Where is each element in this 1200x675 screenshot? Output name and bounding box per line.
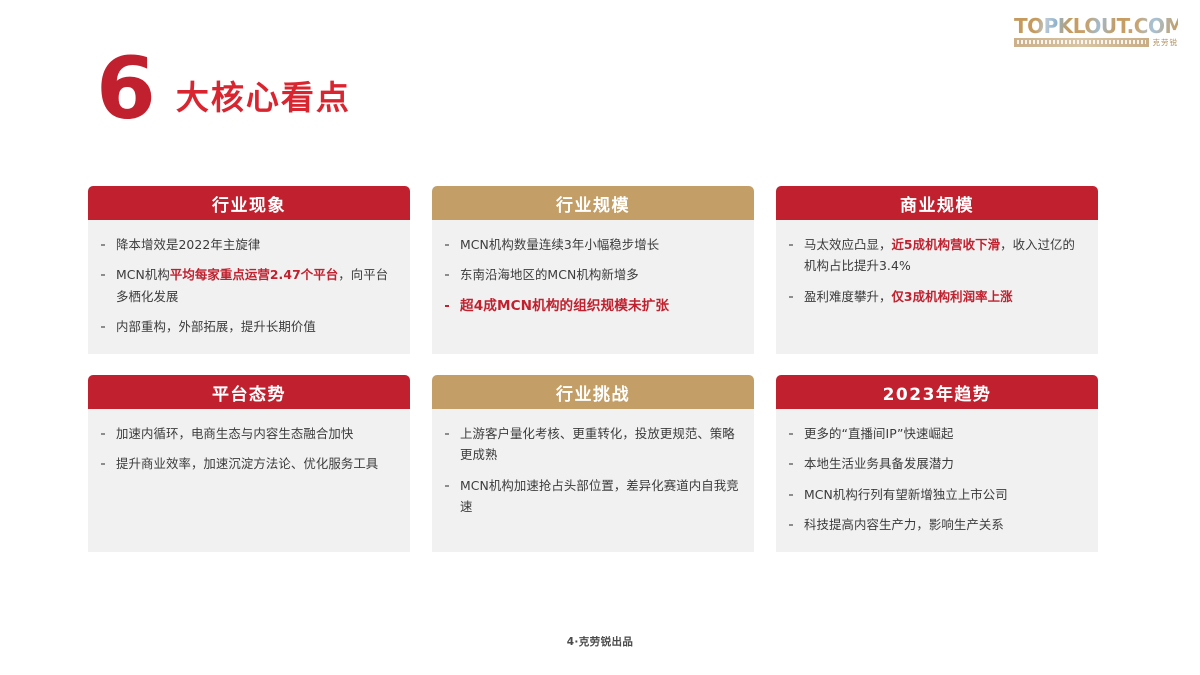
bullet-text: MCN机构行列有望新增独立上市公司 xyxy=(804,487,1008,502)
card-bullet-list: 降本增效是2022年主旋律MCN机构平均每家重点运营2.47个平台，向平台多栖化… xyxy=(99,234,396,337)
bullet-accent-text: 仅3成机构利润率上涨 xyxy=(891,289,1012,304)
logo-subtitle-row: 克劳锐 xyxy=(1014,38,1178,47)
card-bullet-item: 科技提高内容生产力，影响生产关系 xyxy=(787,514,1084,535)
card-bullet-list: MCN机构数量连续3年小幅稳步增长东南沿海地区的MCN机构新增多超4成MCN机构… xyxy=(443,234,740,318)
highlight-card: 2023年趋势更多的“直播间IP”快速崛起本地生活业务具备发展潜力MCN机构行列… xyxy=(776,375,1098,552)
card-bullet-item: MCN机构加速抢占头部位置，差异化赛道内自我竞速 xyxy=(443,475,740,518)
bullet-text: 内部重构，外部拓展，提升长期价值 xyxy=(116,319,316,334)
bullet-text: 提升商业效率，加速沉淀方法论、优化服务工具 xyxy=(116,456,378,471)
card-bullet-item: 降本增效是2022年主旋律 xyxy=(99,234,396,255)
card-bullet-item: 盈利难度攀升，仅3成机构利润率上涨 xyxy=(787,286,1084,307)
logo-brand-cn: 克劳锐 xyxy=(1153,39,1179,47)
card-bullet-list: 上游客户量化考核、更重转化，投放更规范、策略更成熟MCN机构加速抢占头部位置，差… xyxy=(443,423,740,517)
brand-logo: TOPKLOUT.COM 克劳锐 xyxy=(1014,16,1178,47)
bullet-text: MCN机构 xyxy=(116,267,170,282)
highlight-card: 平台态势加速内循环，电商生态与内容生态融合加快提升商业效率，加速沉淀方法论、优化… xyxy=(88,375,410,552)
card-header: 行业现象 xyxy=(88,186,410,220)
logo-wordmark: TOPKLOUT.COM xyxy=(1014,16,1178,36)
bullet-text: 加速内循环，电商生态与内容生态融合加快 xyxy=(116,426,353,441)
bullet-text: 东南沿海地区的MCN机构新增多 xyxy=(460,267,639,282)
highlight-card: 行业规模MCN机构数量连续3年小幅稳步增长东南沿海地区的MCN机构新增多超4成M… xyxy=(432,186,754,354)
card-bullet-item: 本地生活业务具备发展潜力 xyxy=(787,453,1084,474)
bullet-text: 更多的“直播间IP”快速崛起 xyxy=(804,426,954,441)
card-header: 商业规模 xyxy=(776,186,1098,220)
bullet-text: 科技提高内容生产力，影响生产关系 xyxy=(804,517,1004,532)
bullet-accent-text: 平均每家重点运营2.47个平台 xyxy=(170,267,338,282)
card-bullet-item: 上游客户量化考核、更重转化，投放更规范、策略更成熟 xyxy=(443,423,740,466)
bullet-text: 本地生活业务具备发展潜力 xyxy=(804,456,954,471)
card-header: 行业规模 xyxy=(432,186,754,220)
page-title-text: 大核心看点 xyxy=(176,71,351,128)
card-body: MCN机构数量连续3年小幅稳步增长东南沿海地区的MCN机构新增多超4成MCN机构… xyxy=(432,220,754,354)
card-body: 加速内循环，电商生态与内容生态融合加快提升商业效率，加速沉淀方法论、优化服务工具 xyxy=(88,409,410,552)
card-body: 马太效应凸显，近5成机构营收下滑，收入过亿的机构占比提升3.4%盈利难度攀升，仅… xyxy=(776,220,1098,354)
card-bullet-list: 更多的“直播间IP”快速崛起本地生活业务具备发展潜力MCN机构行列有望新增独立上… xyxy=(787,423,1084,535)
card-bullet-item: MCN机构平均每家重点运营2.47个平台，向平台多栖化发展 xyxy=(99,264,396,307)
card-bullet-item: 提升商业效率，加速沉淀方法论、优化服务工具 xyxy=(99,453,396,474)
card-bullet-item: 更多的“直播间IP”快速崛起 xyxy=(787,423,1084,444)
slide-footer: 4·克劳锐出品 xyxy=(0,634,1200,649)
card-bullet-list: 加速内循环，电商生态与内容生态融合加快提升商业效率，加速沉淀方法论、优化服务工具 xyxy=(99,423,396,475)
card-bullet-item: 马太效应凸显，近5成机构营收下滑，收入过亿的机构占比提升3.4% xyxy=(787,234,1084,277)
logo-decorative-bar xyxy=(1014,38,1149,47)
bullet-text: 盈利难度攀升， xyxy=(804,289,891,304)
card-body: 上游客户量化考核、更重转化，投放更规范、策略更成熟MCN机构加速抢占头部位置，差… xyxy=(432,409,754,552)
highlight-card: 行业现象降本增效是2022年主旋律MCN机构平均每家重点运营2.47个平台，向平… xyxy=(88,186,410,354)
bullet-text: 马太效应凸显， xyxy=(804,237,891,252)
card-body: 更多的“直播间IP”快速崛起本地生活业务具备发展潜力MCN机构行列有望新增独立上… xyxy=(776,409,1098,552)
highlights-grid: 行业现象降本增效是2022年主旋律MCN机构平均每家重点运营2.47个平台，向平… xyxy=(88,186,1098,552)
slide-canvas: TOPKLOUT.COM 克劳锐 6 大核心看点 行业现象降本增效是2022年主… xyxy=(0,0,1200,675)
card-bullet-item: MCN机构数量连续3年小幅稳步增长 xyxy=(443,234,740,255)
card-bullet-item: MCN机构行列有望新增独立上市公司 xyxy=(787,484,1084,505)
card-bullet-list: 马太效应凸显，近5成机构营收下滑，收入过亿的机构占比提升3.4%盈利难度攀升，仅… xyxy=(787,234,1084,307)
card-bullet-item: 加速内循环，电商生态与内容生态融合加快 xyxy=(99,423,396,444)
card-header: 2023年趋势 xyxy=(776,375,1098,409)
card-bullet-item: 东南沿海地区的MCN机构新增多 xyxy=(443,264,740,285)
card-body: 降本增效是2022年主旋律MCN机构平均每家重点运营2.47个平台，向平台多栖化… xyxy=(88,220,410,354)
bullet-text: MCN机构加速抢占头部位置，差异化赛道内自我竞速 xyxy=(460,478,739,514)
card-bullet-item: 超4成MCN机构的组织规模未扩张 xyxy=(443,295,740,318)
page-title: 6 大核心看点 xyxy=(96,52,351,128)
highlight-card: 行业挑战上游客户量化考核、更重转化，投放更规范、策略更成熟MCN机构加速抢占头部… xyxy=(432,375,754,552)
bullet-accent-text: 近5成机构营收下滑 xyxy=(891,237,1000,252)
bullet-text: 上游客户量化考核、更重转化，投放更规范、策略更成熟 xyxy=(460,426,735,462)
card-bullet-item: 内部重构，外部拓展，提升长期价值 xyxy=(99,316,396,337)
card-header: 平台态势 xyxy=(88,375,410,409)
bullet-text: 降本增效是2022年主旋律 xyxy=(116,237,260,252)
bullet-accent-text: 超4成MCN机构的组织规模未扩张 xyxy=(460,298,669,314)
page-title-number: 6 xyxy=(96,52,154,128)
card-header: 行业挑战 xyxy=(432,375,754,409)
bullet-text: MCN机构数量连续3年小幅稳步增长 xyxy=(460,237,659,252)
highlight-card: 商业规模马太效应凸显，近5成机构营收下滑，收入过亿的机构占比提升3.4%盈利难度… xyxy=(776,186,1098,354)
